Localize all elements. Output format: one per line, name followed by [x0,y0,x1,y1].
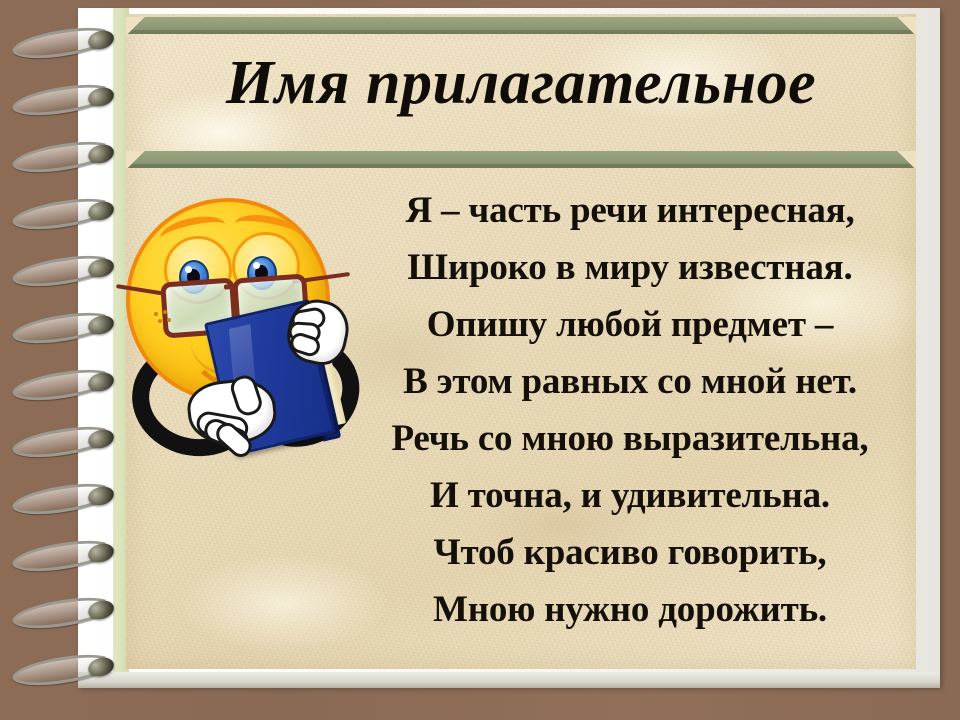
poem-line: Мною нужно дорожить. [330,581,930,638]
spiral-ring [12,197,124,227]
banner-bar-middle-shade [126,164,916,168]
spiral-ring [12,368,124,398]
poem-line: Чтоб красиво говорить, [330,524,930,581]
spiral-binding [0,0,130,720]
poem-line: И точна, и удивительна. [330,467,930,524]
banner-bar-middle-right-bevel [894,151,916,168]
banner-bar-top [126,17,916,34]
spiral-ring [12,311,124,341]
spiral-ring [12,140,124,170]
spiral-ring [12,596,124,626]
page-title: Имя прилагательное [126,52,916,114]
spiral-ring [12,482,124,512]
poem-line: Широко в миру известная. [330,239,930,296]
smiley-illustration [118,192,363,467]
banner-bar-middle [126,151,916,168]
spiral-ring [12,83,124,113]
poem-line: Я – часть речи интересная, [330,182,930,239]
presentation-slide: Имя прилагательное [0,0,960,720]
poem-line: Опишу любой предмет – [330,296,930,353]
banner-bar-top-shade [126,30,916,34]
spiral-ring [12,539,124,569]
spiral-ring [12,425,124,455]
spiral-ring [12,26,124,56]
poem-line: В этом равных со мной нет. [330,353,930,410]
poem-line: Речь со мною выразительна, [330,410,930,467]
spiral-ring [12,254,124,284]
right-eye-glint [253,262,260,269]
spiral-ring [12,653,124,683]
freckles [152,310,182,330]
sheet-bottom-edge [78,672,940,688]
poem-text: Я – часть речи интересная, Широко в миру… [330,182,930,638]
left-eye-glint [185,266,192,273]
banner-bar-top-right-bevel [894,17,916,34]
